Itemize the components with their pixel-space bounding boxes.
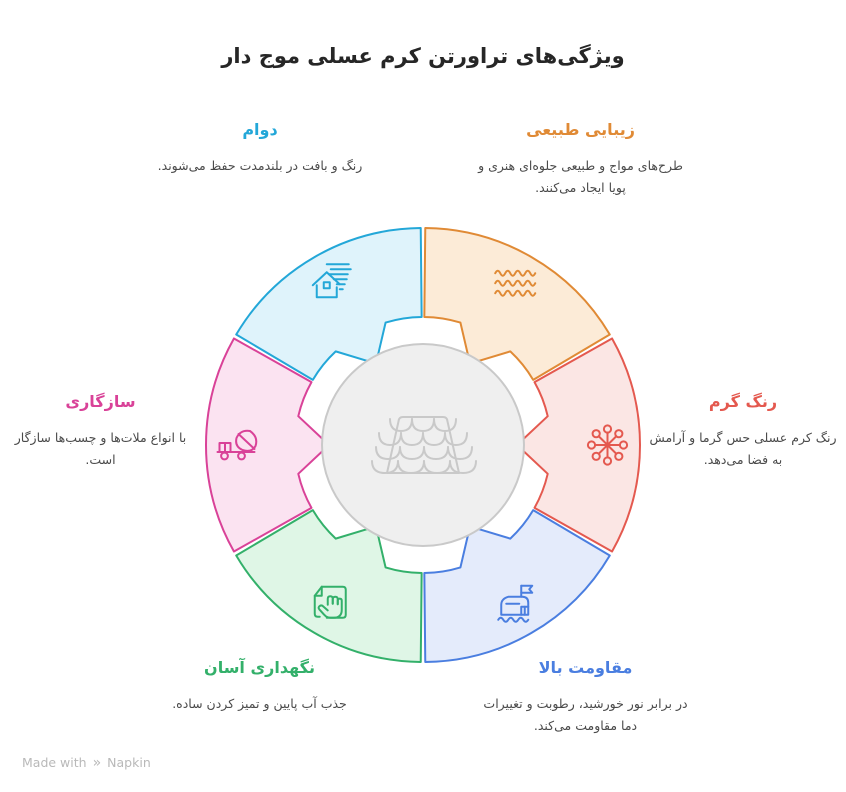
segment-desc: طرح‌های مواج و طبیعی جلوه‌ای هنری و پویا… [468, 155, 693, 199]
page-title: ویژگی‌های تراورتن کرم عسلی موج دار [0, 44, 846, 68]
napkin-watermark: Made with » Napkin [22, 755, 151, 770]
house-wind-icon [313, 264, 351, 297]
label-compatibility: سازگاری با انواع ملات‌ها و چسب‌ها سازگار… [8, 392, 193, 471]
waves-icon [495, 271, 535, 296]
fort-flag-water-icon [498, 586, 532, 622]
segment-title: مقاومت بالا [478, 658, 693, 679]
cement-mixer-truck-icon [218, 431, 257, 460]
wheel-segment-natural-beauty[interactable] [424, 228, 609, 380]
napkin-chevrons-icon: » [93, 756, 102, 770]
segment-shape[interactable] [206, 338, 329, 551]
segment-shape[interactable] [424, 510, 609, 662]
segment-desc: در برابر نور خورشید، رطوبت و تغییرات دما… [478, 693, 693, 737]
label-durability: دوام رنگ و بافت در بلندمدت حفظ می‌شوند. [150, 120, 370, 177]
wheel-segment-easy-maintenance[interactable] [236, 510, 421, 662]
segment-title: دوام [150, 120, 370, 141]
wheel-segment-durability[interactable] [236, 228, 421, 380]
segment-title: رنگ گرم [648, 392, 838, 413]
segment-desc: رنگ کرم عسلی حس گرما و آرامش به فضا می‌د… [648, 427, 838, 471]
hand-wipe-cloth-icon [315, 587, 346, 618]
segment-title: نگهداری آسان [152, 658, 367, 679]
label-easy-maintenance: نگهداری آسان جذب آب پایین و تمیز کردن سا… [152, 658, 367, 715]
watermark-prefix: Made with [22, 755, 87, 770]
scalloped-tile-roof-icon [372, 417, 476, 473]
segment-shape[interactable] [236, 228, 421, 380]
segment-title: سازگاری [8, 392, 193, 413]
segment-title: زیبایی طبیعی [468, 120, 693, 141]
wheel-segment-high-resistance[interactable] [424, 510, 609, 662]
wheel-segment-compatibility[interactable] [206, 338, 329, 551]
segment-desc: با انواع ملات‌ها و چسب‌ها سازگار است. [8, 427, 193, 471]
segment-desc: جذب آب پایین و تمیز کردن ساده. [152, 693, 367, 715]
molecule-node-icon [588, 425, 627, 464]
segment-shape[interactable] [424, 228, 609, 380]
label-high-resistance: مقاومت بالا در برابر نور خورشید، رطوبت و… [478, 658, 693, 737]
segment-shape[interactable] [517, 338, 640, 551]
label-warm-color: رنگ گرم رنگ کرم عسلی حس گرما و آرامش به … [648, 392, 838, 471]
wheel-hub [322, 344, 524, 546]
watermark-brand: Napkin [107, 755, 151, 770]
segment-shape[interactable] [236, 510, 421, 662]
hub-circle [322, 344, 524, 546]
label-natural-beauty: زیبایی طبیعی طرح‌های مواج و طبیعی جلوه‌ا… [468, 120, 693, 199]
segment-desc: رنگ و بافت در بلندمدت حفظ می‌شوند. [150, 155, 370, 177]
wheel-segment-warm-color[interactable] [517, 338, 640, 551]
